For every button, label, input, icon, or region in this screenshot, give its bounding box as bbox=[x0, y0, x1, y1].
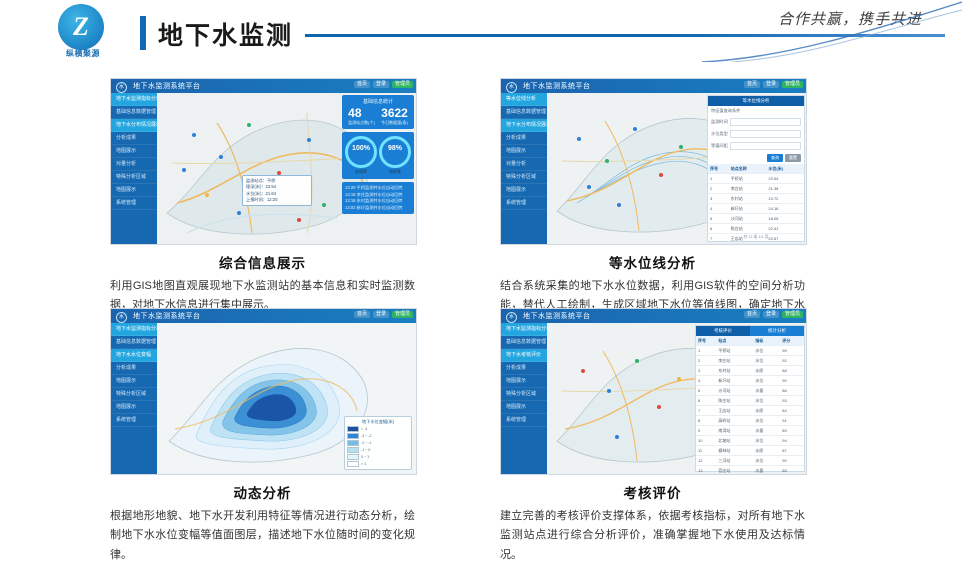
sidebar-item-7[interactable]: 系统管理 bbox=[111, 414, 157, 427]
form-label-1: 监测时间 bbox=[711, 119, 728, 125]
reset-button[interactable]: 重置 bbox=[785, 154, 801, 162]
legend-item: 0 ~ 1 bbox=[347, 454, 409, 460]
assessment-table-panel[interactable]: 考核评价 统计分析 序号 站点 指标 评分 1平桥站水位952李庄站水位923东… bbox=[695, 325, 805, 472]
sidebar-item-5[interactable]: 特殊分析区域 bbox=[111, 388, 157, 401]
gauge-label-integrity: 完好率 bbox=[379, 169, 411, 175]
table-cell: 平桥站 bbox=[716, 346, 753, 355]
panel-3: 水 地下水监测系统平台 首页 登录 管理员 地下水监测指标分析 基础信息数据管理… bbox=[110, 308, 415, 565]
th-3: 评分 bbox=[780, 336, 804, 345]
page-header: Z 纵横聚源 地下水监测 合作共赢，携手共进 bbox=[0, 0, 962, 62]
table-cell: 水位 bbox=[753, 346, 780, 355]
table-row[interactable]: 1平桥站水位95 bbox=[696, 346, 804, 356]
table-cell: 官庄站 bbox=[716, 466, 753, 475]
table-cell: 东村站 bbox=[716, 366, 753, 375]
sidebar-item-4[interactable]: 地图展示 bbox=[501, 375, 547, 388]
panel-4-caption-title: 考核评价 bbox=[500, 482, 805, 502]
table-cell: 92 bbox=[780, 356, 804, 365]
table-row[interactable]: 13官庄站水量85 bbox=[696, 466, 804, 475]
panel-3-caption-body: 根据地形地貌、地下水开发利用特征等情况进行动态分析，绘制地下水水位变幅等值面图层… bbox=[110, 507, 415, 565]
panel-4-caption-body: 建立完善的考核评价支撑体系，依据考核指标，对所有地下水监测站点进行综合分析评价，… bbox=[500, 507, 805, 565]
map-station-dot[interactable] bbox=[633, 127, 637, 131]
stats-header: 基础信息统计 bbox=[345, 98, 411, 105]
legend-swatch bbox=[347, 440, 359, 446]
form-buttons[interactable]: 查询 重置 bbox=[708, 152, 804, 164]
map-station-dot[interactable] bbox=[297, 218, 301, 222]
map-station-dot[interactable] bbox=[237, 211, 241, 215]
table-body[interactable]: 1平桥站水位952李庄站水位923东村站水质884新圩站水位905沙河站水量86… bbox=[696, 346, 804, 475]
table-row[interactable]: 3东村站19.72 bbox=[708, 194, 804, 204]
table-header-row: 序号 站点名称 水位(米) bbox=[708, 164, 804, 174]
form-input-3[interactable] bbox=[730, 142, 801, 150]
table-row[interactable]: 3东村站水质88 bbox=[696, 366, 804, 376]
app-logo-icon: 水 bbox=[116, 82, 127, 93]
panel-header: 等水位线分析 bbox=[708, 96, 804, 106]
table-row[interactable]: 8高岭站水位91 bbox=[696, 416, 804, 426]
tab-statistics[interactable]: 统计分析 bbox=[750, 326, 804, 336]
table-row[interactable]: 4新圩站水位90 bbox=[696, 376, 804, 386]
map-station-dot[interactable] bbox=[247, 123, 251, 127]
table-cell: 9 bbox=[696, 426, 716, 435]
table-cell: 94 bbox=[780, 436, 804, 445]
app-titlebar: 水 地下水监测系统平台 首页 登录 管理员 bbox=[501, 309, 806, 323]
map-station-dot[interactable] bbox=[322, 203, 326, 207]
legend-swatch bbox=[347, 454, 359, 460]
th-1: 站点名称 bbox=[729, 164, 767, 173]
title-accent-bar bbox=[140, 16, 146, 50]
chip-home[interactable]: 首页 bbox=[744, 81, 760, 88]
table-cell: 5 bbox=[708, 214, 729, 223]
table-cell: 2 bbox=[696, 356, 716, 365]
query-button[interactable]: 查询 bbox=[767, 154, 783, 162]
chip-login[interactable]: 登录 bbox=[373, 81, 389, 88]
table-cell: 水量 bbox=[753, 426, 780, 435]
table-row[interactable]: 6陈庄站22.41 bbox=[708, 224, 804, 234]
chip-user[interactable]: 管理员 bbox=[392, 81, 413, 88]
table-cell: 23.54 bbox=[766, 174, 804, 183]
table-cell: 1 bbox=[708, 174, 729, 183]
legend-swatch bbox=[347, 426, 359, 432]
table-cell: 6 bbox=[696, 396, 716, 405]
legend-items: < -3-3 ~ -2-2 ~ -1-1 ~ 00 ~ 1> 1 bbox=[347, 426, 409, 467]
table-cell: 8 bbox=[696, 416, 716, 425]
map-legend: 地下水位变幅(米) < -3-3 ~ -2-2 ~ -1-1 ~ 00 ~ 1>… bbox=[344, 416, 412, 470]
log-line-2: 13:18 东村监测井水位自动回传 bbox=[345, 198, 411, 205]
table-cell: 90 bbox=[780, 456, 804, 465]
table-cell: 沙河站 bbox=[716, 386, 753, 395]
table-cell: 新圩站 bbox=[716, 376, 753, 385]
gauge-integrity-rate: 98% bbox=[379, 136, 411, 168]
table-cell: 25.09 bbox=[766, 244, 804, 245]
chip-login[interactable]: 登录 bbox=[763, 311, 779, 318]
app-titlebar: 水 地下水监测系统平台 首页 登录 管理员 bbox=[111, 79, 416, 93]
table-cell: 18.05 bbox=[766, 214, 804, 223]
table-cell: 高岭站 bbox=[729, 244, 767, 245]
panel-2-screenshot[interactable]: 水 地下水监测系统平台 首页 登录 管理员 等水位线分析 基础信息数据管理 地下… bbox=[500, 78, 807, 245]
sidebar-item-5[interactable]: 对量分析 bbox=[111, 158, 157, 171]
app-title: 地下水监测系统平台 bbox=[523, 81, 591, 91]
app-sidebar[interactable]: 地下水监测指标分析 基础信息数据管理 地下水考核评价 分析成果 地图展示 特殊分… bbox=[501, 323, 547, 474]
sidebar-item-2[interactable]: 地下水分布情况展示 bbox=[501, 119, 547, 132]
tab-assessment[interactable]: 考核评价 bbox=[696, 326, 750, 336]
table-row[interactable]: 2李庄站水位92 bbox=[696, 356, 804, 366]
table-cell: 7 bbox=[696, 406, 716, 415]
table-cell: 5 bbox=[696, 386, 716, 395]
table-row[interactable]: 9南湾站水量89 bbox=[696, 426, 804, 436]
map-station-dot[interactable] bbox=[587, 185, 591, 189]
panel-2: 水 地下水监测系统平台 首页 登录 管理员 等水位线分析 基础信息数据管理 地下… bbox=[500, 78, 805, 335]
table-cell: 4 bbox=[708, 204, 729, 213]
sidebar-item-0[interactable]: 等水位线分析 bbox=[501, 93, 547, 106]
panel-4: 水 地下水监测系统平台 首页 登录 管理员 地下水监测指标分析 基础信息数据管理… bbox=[500, 308, 805, 565]
map-station-dot[interactable] bbox=[635, 359, 639, 363]
table-cell: 水量 bbox=[753, 466, 780, 475]
table-cell: 水质 bbox=[753, 446, 780, 455]
table-cell: 88 bbox=[780, 366, 804, 375]
map-station-dot[interactable] bbox=[182, 168, 186, 172]
gauge-online-rate: 100% bbox=[345, 136, 377, 168]
table-row[interactable]: 10北坡站水位94 bbox=[696, 436, 804, 446]
map-station-dot[interactable] bbox=[219, 155, 223, 159]
sidebar-item-1[interactable]: 基础信息数据管理 bbox=[501, 336, 547, 349]
table-pager[interactable]: 共 12 条 1/1 页 bbox=[708, 235, 804, 240]
stat-label-records: 今日数据量(条) bbox=[381, 120, 408, 126]
map-station-dot[interactable] bbox=[577, 137, 581, 141]
table-cell: 86 bbox=[780, 386, 804, 395]
logo-text: 纵横聚源 bbox=[52, 48, 114, 59]
sidebar-item-1[interactable]: 基础信息数据管理 bbox=[501, 106, 547, 119]
table-cell: 三河站 bbox=[716, 456, 753, 465]
table-row[interactable]: 4新圩站24.16 bbox=[708, 204, 804, 214]
table-row[interactable]: 7王店站水质84 bbox=[696, 406, 804, 416]
table-cell: 水质 bbox=[753, 366, 780, 375]
legend-label: 0 ~ 1 bbox=[361, 455, 369, 459]
map-station-tooltip: 监测站点：平桥 埋深(米)：23.54 水位(米)：21.64 上报时间：12:… bbox=[242, 175, 312, 206]
table-cell: 水质 bbox=[753, 406, 780, 415]
table-cell: 水量 bbox=[753, 386, 780, 395]
app-topbar-actions[interactable]: 首页 登录 管理员 bbox=[354, 81, 413, 88]
form-row-2[interactable]: 水位类型 bbox=[708, 128, 804, 140]
table-tabs[interactable]: 考核评价 统计分析 bbox=[696, 326, 804, 336]
th-1: 站点 bbox=[716, 336, 753, 345]
table-cell: 水位 bbox=[753, 416, 780, 425]
logo-glyph: Z bbox=[58, 4, 104, 50]
th-0: 序号 bbox=[696, 336, 716, 345]
app-titlebar: 水 地下水监测系统平台 首页 登录 管理员 bbox=[501, 79, 806, 93]
tooltip-line-3: 上报时间：12:20 bbox=[246, 197, 308, 203]
table-cell: 王店站 bbox=[716, 406, 753, 415]
map-station-dot[interactable] bbox=[307, 138, 311, 142]
sidebar-item-4[interactable]: 地图展示 bbox=[111, 375, 157, 388]
map-station-dot[interactable] bbox=[679, 145, 683, 149]
legend-item: -2 ~ -1 bbox=[347, 440, 409, 446]
sidebar-item-8[interactable]: 系统管理 bbox=[501, 197, 547, 210]
table-cell: 高岭站 bbox=[716, 416, 753, 425]
table-cell: 19.72 bbox=[766, 194, 804, 203]
table-cell: 水位 bbox=[753, 456, 780, 465]
table-cell: 东村站 bbox=[729, 194, 767, 203]
map-station-dot[interactable] bbox=[615, 435, 619, 439]
app-logo-icon: 水 bbox=[506, 82, 517, 93]
legend-label: -2 ~ -1 bbox=[361, 441, 372, 445]
table-cell: 3 bbox=[708, 194, 729, 203]
sidebar-item-4[interactable]: 地图展示 bbox=[501, 145, 547, 158]
table-cell: 4 bbox=[696, 376, 716, 385]
map-station-dot[interactable] bbox=[192, 133, 196, 137]
sidebar-item-0[interactable]: 地下水监测指标分析 bbox=[501, 323, 547, 336]
sidebar-item-3[interactable]: 分析成果 bbox=[111, 132, 157, 145]
map-station-dot[interactable] bbox=[677, 377, 681, 381]
table-cell: 12 bbox=[696, 456, 716, 465]
sidebar-item-5[interactable]: 对量分析 bbox=[501, 158, 547, 171]
map-station-dot[interactable] bbox=[581, 369, 585, 373]
log-box: 13:20 平桥监测井水位自动回传 13:19 李庄监测井水位自动回传 13:1… bbox=[342, 182, 414, 214]
panel-1: 水 地下水监测系统平台 首页 登录 管理员 地下水监测指标分析 基础信息数据管理… bbox=[110, 78, 415, 316]
map-station-dot[interactable] bbox=[617, 203, 621, 207]
table-cell: 水位 bbox=[753, 376, 780, 385]
legend-label: -1 ~ 0 bbox=[361, 448, 370, 452]
table-cell: 水位 bbox=[753, 436, 780, 445]
form-input-2[interactable] bbox=[730, 130, 801, 138]
table-cell: 93 bbox=[780, 396, 804, 405]
table-cell: 沙河站 bbox=[729, 214, 767, 223]
table-cell: 陈庄站 bbox=[729, 224, 767, 233]
table-row[interactable]: 5沙河站18.05 bbox=[708, 214, 804, 224]
form-row-1[interactable]: 监测时间 bbox=[708, 116, 804, 128]
app-title: 地下水监测系统平台 bbox=[523, 311, 591, 321]
panel-1-caption-title: 综合信息展示 bbox=[110, 252, 415, 272]
app-topbar-actions[interactable]: 首页 登录 管理员 bbox=[744, 81, 803, 88]
panel-1-screenshot[interactable]: 水 地下水监测系统平台 首页 登录 管理员 地下水监测指标分析 基础信息数据管理… bbox=[110, 78, 417, 245]
table-cell: 84 bbox=[780, 406, 804, 415]
table-row[interactable]: 8高岭站25.09 bbox=[708, 244, 804, 245]
table-cell: 87 bbox=[780, 446, 804, 455]
sidebar-item-6[interactable]: 特殊分析区域 bbox=[501, 171, 547, 184]
app-logo-icon: 水 bbox=[506, 312, 517, 323]
sidebar-item-5[interactable]: 特殊分析区域 bbox=[501, 388, 547, 401]
table-cell: 21.38 bbox=[766, 184, 804, 193]
gauge-label-online: 在线率 bbox=[345, 169, 377, 175]
table-cell: 89 bbox=[780, 426, 804, 435]
th-2: 水位(米) bbox=[766, 164, 804, 173]
panel-header-title: 等水位线分析 bbox=[708, 96, 804, 106]
panel-2-caption-title: 等水位线分析 bbox=[500, 252, 805, 272]
table-cell: 水位 bbox=[753, 396, 780, 405]
legend-item: -1 ~ 0 bbox=[347, 447, 409, 453]
legend-item: -3 ~ -2 bbox=[347, 433, 409, 439]
sidebar-item-7[interactable]: 地图展示 bbox=[501, 184, 547, 197]
table-cell: 13 bbox=[696, 466, 716, 475]
panel-4-screenshot[interactable]: 水 地下水监测系统平台 首页 登录 管理员 地下水监测指标分析 基础信息数据管理… bbox=[500, 308, 807, 475]
table-cell: 北坡站 bbox=[716, 436, 753, 445]
table-cell: 85 bbox=[780, 466, 804, 475]
app-logo-icon: 水 bbox=[116, 312, 127, 323]
legend-label: < -3 bbox=[361, 427, 367, 431]
table-row[interactable]: 11柳林站水质87 bbox=[696, 446, 804, 456]
app-title: 地下水监测系统平台 bbox=[133, 81, 201, 91]
chip-home[interactable]: 首页 bbox=[354, 81, 370, 88]
app-title: 地下水监测系统平台 bbox=[133, 311, 201, 321]
table-row[interactable]: 5沙河站水量86 bbox=[696, 386, 804, 396]
table-cell: 1 bbox=[696, 346, 716, 355]
sidebar-item-1[interactable]: 基础信息数据管理 bbox=[111, 106, 157, 119]
legend-swatch bbox=[347, 461, 359, 467]
form-row-3[interactable]: 等值间距 bbox=[708, 140, 804, 152]
header-decoration bbox=[662, 0, 962, 62]
table-cell: 6 bbox=[708, 224, 729, 233]
sidebar-item-8[interactable]: 系统管理 bbox=[111, 197, 157, 210]
sidebar-item-7[interactable]: 地图展示 bbox=[111, 184, 157, 197]
sidebar-item-0[interactable]: 地下水监测指标分析 bbox=[111, 323, 157, 336]
sidebar-item-2[interactable]: 地下水水位变幅 bbox=[111, 349, 157, 362]
table-cell: 平桥站 bbox=[729, 174, 767, 183]
app-sidebar[interactable]: 等水位线分析 基础信息数据管理 地下水分布情况展示 分析成果 地图展示 对量分析… bbox=[501, 93, 547, 244]
table-cell: 2 bbox=[708, 184, 729, 193]
sidebar-item-7[interactable]: 系统管理 bbox=[501, 414, 547, 427]
app-sidebar[interactable]: 地下水监测指标分析 基础信息数据管理 地下水水位变幅 分析成果 地图展示 特殊分… bbox=[111, 323, 157, 474]
chip-home[interactable]: 首页 bbox=[354, 311, 370, 318]
table-cell: 8 bbox=[708, 244, 729, 245]
map-station-dot[interactable] bbox=[657, 405, 661, 409]
form-label-3: 等值间距 bbox=[711, 143, 728, 149]
table-cell: 22.41 bbox=[766, 224, 804, 233]
table-cell: 南湾站 bbox=[716, 426, 753, 435]
table-cell: 新圩站 bbox=[729, 204, 767, 213]
legend-label: -3 ~ -2 bbox=[361, 434, 372, 438]
th-0: 序号 bbox=[708, 164, 729, 173]
chip-user[interactable]: 管理员 bbox=[782, 311, 803, 318]
legend-swatch bbox=[347, 433, 359, 439]
sidebar-item-0[interactable]: 地下水监测指标分析 bbox=[111, 93, 157, 106]
sidebar-item-6[interactable]: 特殊分析区域 bbox=[111, 171, 157, 184]
sidebar-item-6[interactable]: 地图展示 bbox=[111, 401, 157, 414]
stats-summary-box: 基础信息统计 48 监测站点数(个) 3622 今日数据量(条) bbox=[342, 95, 414, 129]
chip-home[interactable]: 首页 bbox=[744, 311, 760, 318]
map-station-dot[interactable] bbox=[659, 173, 663, 177]
map-station-dot[interactable] bbox=[607, 389, 611, 393]
map-station-dot[interactable] bbox=[205, 193, 209, 197]
table-row[interactable]: 12三河站水位90 bbox=[696, 456, 804, 466]
stats-panel: 基础信息统计 48 监测站点数(个) 3622 今日数据量(条) 100% 在线… bbox=[342, 95, 414, 242]
chip-user[interactable]: 管理员 bbox=[392, 311, 413, 318]
table-cell: 李庄站 bbox=[716, 356, 753, 365]
chip-user[interactable]: 管理员 bbox=[782, 81, 803, 88]
log-line-0: 13:20 平桥监测井水位自动回传 bbox=[345, 185, 411, 192]
table-cell: 10 bbox=[696, 436, 716, 445]
contour-query-panel[interactable]: 等水位线分析 特征值查询条件 监测时间 水位类型 等值间距 查询 重置 bbox=[707, 95, 805, 242]
table-header-row: 序号 站点 指标 评分 bbox=[696, 336, 804, 346]
stat-value-stations: 48 bbox=[348, 107, 375, 119]
legend-item: < -3 bbox=[347, 426, 409, 432]
log-line-3: 13:02 新圩监测井水位自动回传 bbox=[345, 205, 411, 212]
chip-login[interactable]: 登录 bbox=[373, 311, 389, 318]
sidebar-item-2[interactable]: 地下水分布情况展示 bbox=[111, 119, 157, 132]
table-cell: 95 bbox=[780, 346, 804, 355]
sidebar-item-3[interactable]: 分析成果 bbox=[111, 362, 157, 375]
app-titlebar: 水 地下水监测系统平台 首页 登录 管理员 bbox=[111, 309, 416, 323]
sidebar-item-4[interactable]: 地图展示 bbox=[111, 145, 157, 158]
panel-3-caption-title: 动态分析 bbox=[110, 482, 415, 502]
legend-title: 地下水位变幅(米) bbox=[347, 419, 409, 425]
table-cell: 水位 bbox=[753, 356, 780, 365]
gauges-box: 100% 在线率 98% 完好率 bbox=[342, 132, 414, 179]
th-2: 指标 bbox=[753, 336, 780, 345]
form-row-0[interactable]: 特征值查询条件 bbox=[708, 106, 804, 116]
table-cell: 李庄站 bbox=[729, 184, 767, 193]
form-input-1[interactable] bbox=[730, 118, 801, 126]
table-cell: 11 bbox=[696, 446, 716, 455]
stat-label-stations: 监测站点数(个) bbox=[348, 120, 375, 126]
app-topbar-actions[interactable]: 首页 登录 管理员 bbox=[354, 311, 413, 318]
page-title: 地下水监测 bbox=[158, 16, 293, 52]
stat-value-records: 3622 bbox=[381, 107, 408, 119]
legend-label: > 1 bbox=[361, 462, 366, 466]
sidebar-item-2[interactable]: 地下水考核评价 bbox=[501, 349, 547, 362]
table-cell: 陈庄站 bbox=[716, 396, 753, 405]
panel-3-screenshot[interactable]: 水 地下水监测系统平台 首页 登录 管理员 地下水监测指标分析 基础信息数据管理… bbox=[110, 308, 417, 475]
table-cell: 3 bbox=[696, 366, 716, 375]
legend-item: > 1 bbox=[347, 461, 409, 467]
table-row[interactable]: 1平桥站23.54 bbox=[708, 174, 804, 184]
gis-map-dynamic[interactable]: 地下水位变幅(米) < -3-3 ~ -2-2 ~ -1-1 ~ 00 ~ 1>… bbox=[157, 323, 416, 474]
sidebar-item-6[interactable]: 地图展示 bbox=[501, 401, 547, 414]
form-label-0: 特征值查询条件 bbox=[711, 108, 740, 114]
table-row[interactable]: 2李庄站21.38 bbox=[708, 184, 804, 194]
table-row[interactable]: 6陈庄站水位93 bbox=[696, 396, 804, 406]
legend-swatch bbox=[347, 447, 359, 453]
chip-login[interactable]: 登录 bbox=[763, 81, 779, 88]
table-cell: 91 bbox=[780, 416, 804, 425]
app-sidebar[interactable]: 地下水监测指标分析 基础信息数据管理 地下水分布情况展示 分析成果 地图展示 对… bbox=[111, 93, 157, 244]
table-cell: 90 bbox=[780, 376, 804, 385]
company-logo: Z 纵横聚源 bbox=[52, 4, 114, 60]
sidebar-item-3[interactable]: 分析成果 bbox=[501, 362, 547, 375]
form-label-2: 水位类型 bbox=[711, 131, 728, 137]
sidebar-item-3[interactable]: 分析成果 bbox=[501, 132, 547, 145]
sidebar-item-1[interactable]: 基础信息数据管理 bbox=[111, 336, 157, 349]
table-cell: 24.16 bbox=[766, 204, 804, 213]
table-cell: 柳林站 bbox=[716, 446, 753, 455]
app-topbar-actions[interactable]: 首页 登录 管理员 bbox=[744, 311, 803, 318]
map-station-dot[interactable] bbox=[605, 159, 609, 163]
